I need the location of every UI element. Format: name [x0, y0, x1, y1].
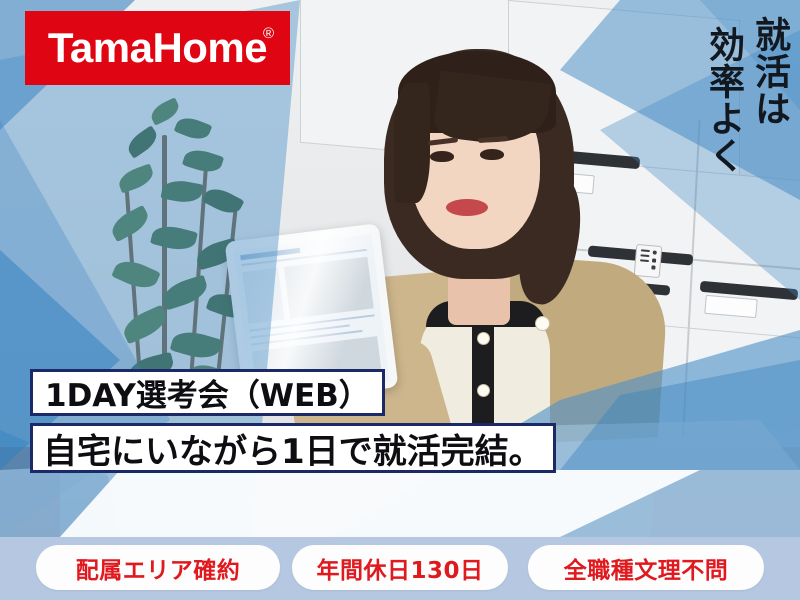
badge-pill-3: 全職種文理不問 [528, 545, 764, 590]
blouse-button-1 [478, 333, 489, 344]
registered-trademark-icon: ® [263, 25, 274, 42]
badge-label-2: 年間休日130日 [316, 551, 483, 585]
headline-box-primary: 1DAY選考会（WEB） [30, 369, 385, 416]
eye-right [480, 149, 504, 160]
lips [446, 199, 488, 216]
blazer-button [536, 317, 549, 330]
vertical-copy-left: 効率よく [704, 26, 742, 174]
headline-text-primary: 1DAY選考会（WEB） [45, 370, 370, 415]
badge-pill-1: 配属エリア確約 [36, 545, 280, 590]
badge-label-1: 配属エリア確約 [76, 551, 241, 585]
headline-text-secondary: 自宅にいながら1日で就活完結。 [43, 424, 543, 473]
logo-wordmark: TamaHome [48, 27, 267, 69]
headline-box-secondary: 自宅にいながら1日で就活完結。 [30, 423, 556, 473]
eye-left [430, 151, 454, 162]
blouse-button-2 [478, 385, 489, 396]
recruitment-poster: TamaHome ® 就活は 効率よく 1DAY選考会（WEB） 自宅にいながら… [0, 0, 800, 600]
vertical-copy-right: 就活は [750, 16, 788, 127]
badge-label-3: 全職種文理不問 [564, 551, 729, 585]
badge-pill-2: 年間休日130日 [292, 545, 508, 590]
side-hair [394, 83, 430, 203]
tamahome-logo: TamaHome ® [25, 11, 290, 85]
